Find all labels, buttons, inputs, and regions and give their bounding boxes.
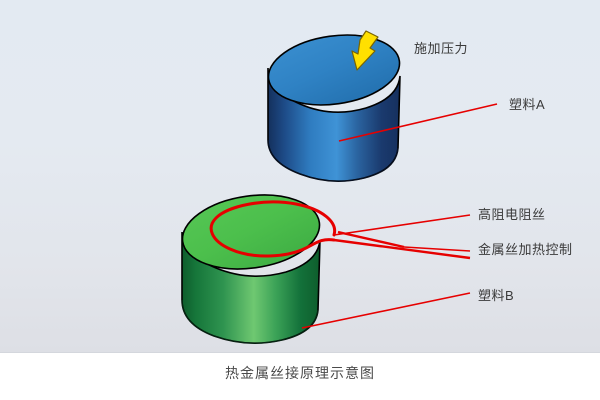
leader-line-resistance-wire [334, 215, 470, 235]
lower-cylinder-plastic-b [178, 187, 325, 343]
annotation-label-heat-control: 金属丝加热控制 [478, 239, 573, 258]
figure-caption: 热金属丝接原理示意图 [0, 363, 600, 383]
figure-root: 施加压力 塑料A 高阻电阻丝 金属丝加热控制 塑料B 热金属丝接原理示意图 [0, 0, 600, 400]
annotation-label-resistance-wire: 高阻电阻丝 [478, 204, 546, 223]
annotation-label-pressure: 施加压力 [414, 38, 468, 57]
leader-line-plastic-b [302, 293, 470, 328]
annotation-label-plastic-a: 塑料A [509, 94, 545, 113]
annotation-label-plastic-b: 塑料B [478, 285, 514, 304]
diagram-panel: 施加压力 塑料A 高阻电阻丝 金属丝加热控制 塑料B [0, 0, 600, 353]
upper-cylinder-plastic-a [264, 27, 404, 181]
